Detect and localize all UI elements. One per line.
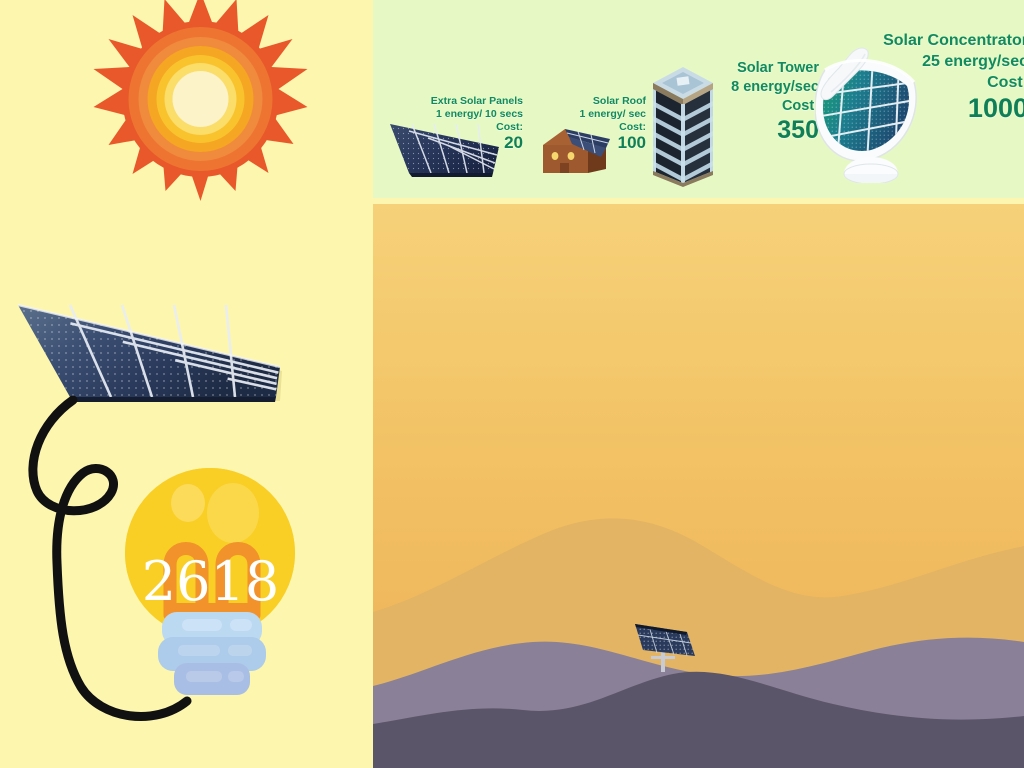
shop-item-labels: Extra Solar Panels 1 energy/ 10 secs Cos… [431, 95, 523, 152]
shop-item-labels: Solar Tower 8 energy/sec Cost: 350 [731, 59, 819, 144]
shop-item-rate: 1 energy/ sec [579, 108, 646, 121]
shop-item-rate: 1 energy/ 10 secs [431, 108, 523, 121]
desert-landscape[interactable] [373, 204, 1024, 768]
energy-counter-value: 2618 [118, 553, 303, 611]
shop-item-solar-concentrator[interactable]: Solar Concentrator 25 energy/sec Cost: 1… [813, 25, 1024, 195]
energy-sidebar: 2618 [0, 0, 373, 768]
shop-item-rate: 8 energy/sec [731, 78, 819, 97]
shop-item-title: Solar Concentrator [883, 30, 1024, 51]
shop-item-solar-roof[interactable]: Solar Roof 1 energy/ sec Cost: 100 [528, 95, 658, 185]
shop-item-cost-label: Cost: [883, 72, 1024, 93]
shop-item-cost-value: 20 [431, 134, 523, 152]
shop-item-title: Extra Solar Panels [431, 95, 523, 108]
shop-item-extra-solar-panels[interactable]: Extra Solar Panels 1 energy/ 10 secs Cos… [383, 95, 523, 185]
office-tower-icon [647, 61, 719, 191]
upgrade-shop-bar: Extra Solar Panels 1 energy/ 10 secs Cos… [373, 0, 1024, 198]
shop-item-cost-value: 100 [579, 134, 646, 152]
shop-item-cost-label: Cost: [731, 97, 819, 116]
shop-item-labels: Solar Concentrator 25 energy/sec Cost: 1… [883, 30, 1024, 123]
game-screen: 2618 [0, 0, 1024, 768]
shop-item-solar-tower[interactable]: Solar Tower 8 energy/sec Cost: 350 [645, 55, 825, 195]
shop-item-cost-value: 1000 [883, 93, 1024, 123]
sun-icon[interactable] [88, 0, 313, 207]
shop-item-title: Solar Roof [579, 95, 646, 108]
shop-item-title: Solar Tower [731, 59, 819, 78]
shop-item-cost-value: 350 [731, 116, 819, 144]
shop-item-rate: 25 energy/sec [883, 51, 1024, 72]
shop-item-labels: Solar Roof 1 energy/ sec Cost: 100 [579, 95, 646, 152]
